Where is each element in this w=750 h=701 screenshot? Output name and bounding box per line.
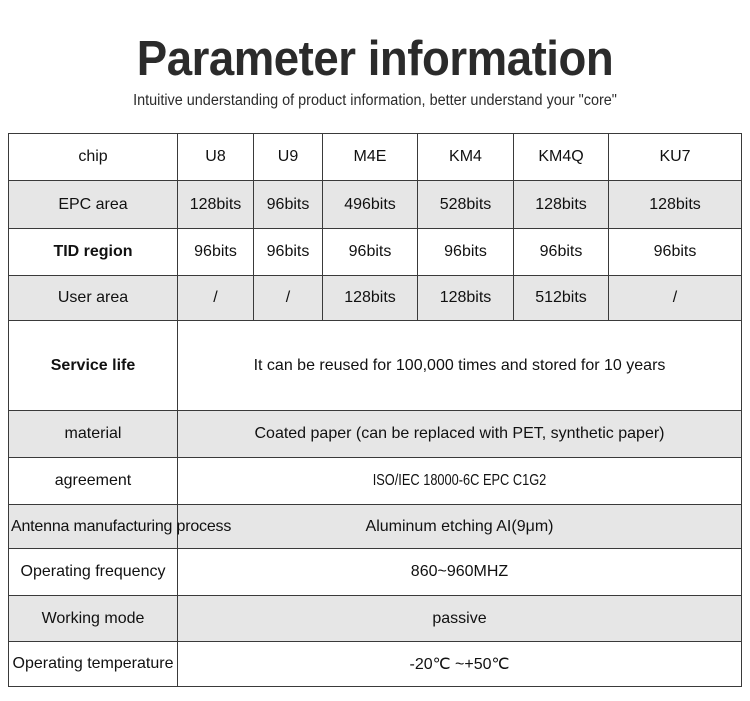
cell-epc-km4q: 128bits [514,181,609,229]
cell-epc-km4: 528bits [418,181,514,229]
row-label-operating-temperature: Operating temperature [9,642,178,687]
cell-tid-u8: 96bits [178,229,254,276]
table-row-epc-area: EPC area 128bits 96bits 496bits 528bits … [9,181,742,229]
cell-epc-m4e: 496bits [323,181,418,229]
row-label-chip: chip [9,134,178,181]
cell-tid-ku7: 96bits [609,229,742,276]
parameter-table: chip U8 U9 M4E KM4 KM4Q KU7 EPC area 128… [8,133,742,687]
cell-chip-u8: U8 [178,134,254,181]
cell-user-ku7: / [609,276,742,321]
table-row-user-area: User area / / 128bits 128bits 512bits / [9,276,742,321]
row-label-tid-region: TID region [9,229,178,276]
row-label-working-mode: Working mode [9,596,178,642]
cell-service-life-value: It can be reused for 100,000 times and s… [178,321,742,411]
cell-chip-km4: KM4 [418,134,514,181]
cell-user-m4e: 128bits [323,276,418,321]
row-label-epc-area: EPC area [9,181,178,229]
cell-epc-u8: 128bits [178,181,254,229]
cell-agreement-value: ISO/IEC 18000-6C EPC C1G2 [178,458,742,505]
page-subtitle: Intuitive understanding of product infor… [26,92,724,110]
row-label-service-life: Service life [9,321,178,411]
cell-tid-km4q: 96bits [514,229,609,276]
table-row-working-mode: Working mode passive [9,596,742,642]
cell-chip-u9: U9 [254,134,323,181]
cell-chip-m4e: M4E [323,134,418,181]
table-row-tid-region: TID region 96bits 96bits 96bits 96bits 9… [9,229,742,276]
table-row-antenna-process: Antenna manufacturing process Aluminum e… [9,505,742,549]
page-header: Parameter information Intuitive understa… [0,0,750,110]
table-row-agreement: agreement ISO/IEC 18000-6C EPC C1G2 [9,458,742,505]
page-title: Parameter information [26,34,724,85]
cell-working-mode-value: passive [178,596,742,642]
cell-user-u9: / [254,276,323,321]
cell-user-u8: / [178,276,254,321]
cell-operating-temperature-value: -20℃ ~+50℃ [178,642,742,687]
table-row-material: material Coated paper (can be replaced w… [9,411,742,458]
table-row-service-life: Service life It can be reused for 100,00… [9,321,742,411]
cell-tid-u9: 96bits [254,229,323,276]
row-label-agreement: agreement [9,458,178,505]
cell-user-km4q: 512bits [514,276,609,321]
table-row-chip: chip U8 U9 M4E KM4 KM4Q KU7 [9,134,742,181]
agreement-value-text: ISO/IEC 18000-6C EPC C1G2 [373,472,547,490]
row-label-operating-frequency: Operating frequency [9,549,178,596]
cell-user-km4: 128bits [418,276,514,321]
page-root: Parameter information Intuitive understa… [0,0,750,701]
cell-tid-m4e: 96bits [323,229,418,276]
row-label-antenna-process: Antenna manufacturing process [9,505,178,549]
cell-antenna-process-value: Aluminum etching AI(9μm) [178,505,742,549]
table-row-operating-frequency: Operating frequency 860~960MHZ [9,549,742,596]
cell-tid-km4: 96bits [418,229,514,276]
row-label-user-area: User area [9,276,178,321]
table-row-operating-temperature: Operating temperature -20℃ ~+50℃ [9,642,742,687]
cell-epc-u9: 96bits [254,181,323,229]
cell-epc-ku7: 128bits [609,181,742,229]
cell-operating-frequency-value: 860~960MHZ [178,549,742,596]
row-label-material: material [9,411,178,458]
cell-material-value: Coated paper (can be replaced with PET, … [178,411,742,458]
cell-chip-ku7: KU7 [609,134,742,181]
cell-chip-km4q: KM4Q [514,134,609,181]
